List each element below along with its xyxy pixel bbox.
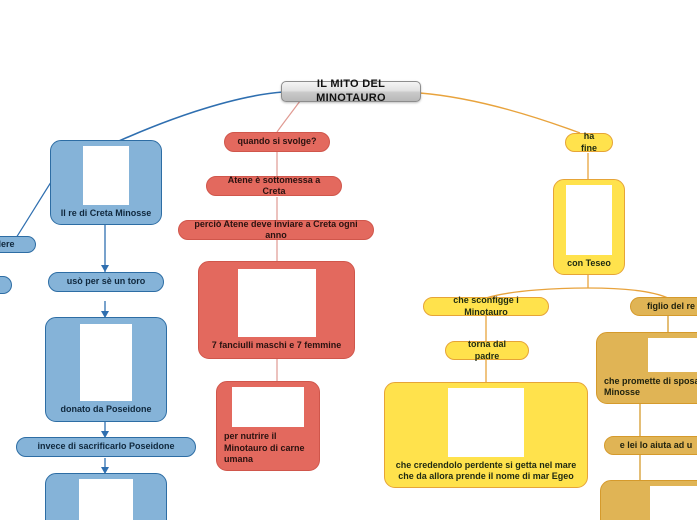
- node-clipped-left-bottom[interactable]: [0, 276, 12, 294]
- node-sposare-line1: che promette di sposa: [602, 376, 697, 387]
- node-poseidone[interactable]: donato da Poseidone: [45, 317, 167, 422]
- scena-illustration-image: [650, 486, 697, 520]
- node-toro-label: usò per sè un toro: [67, 276, 146, 287]
- node-egeo-line1: che credendolo perdente si getta nel mar…: [394, 460, 579, 471]
- node-egeo-line2: che da allora prende il nome di mar Egeo: [396, 471, 576, 482]
- donna-moneta-image: [79, 479, 133, 520]
- carne-illustration-image: [232, 387, 304, 427]
- node-atene[interactable]: Atene è sottomessa a Creta: [206, 176, 342, 196]
- node-minosse-label: Il re di Creta Minosse: [59, 208, 154, 219]
- node-fanciulli[interactable]: 7 fanciulli maschi e 7 femmine: [198, 261, 355, 359]
- node-clipped-left-top[interactable]: dere: [0, 236, 36, 253]
- link-root-yellow: [420, 93, 580, 133]
- node-padre[interactable]: torna dal padre: [445, 341, 529, 360]
- root-title: IL MITO DEL MINOTAURO: [292, 78, 410, 106]
- node-carne-label: per nutrire il Minotauro di carne umana: [222, 431, 318, 465]
- mindmap-canvas: IL MITO DEL MINOTAURO Il re di Creta Min…: [0, 0, 697, 520]
- bambini-illustration-image: [238, 269, 316, 337]
- poseidone-illustration-image: [80, 324, 132, 401]
- node-minosse[interactable]: Il re di Creta Minosse: [50, 140, 162, 225]
- node-aiuta-label: e lei lo aiuta ad u: [620, 440, 693, 451]
- node-fanciulli-label: 7 fanciulli maschi e 7 femmine: [210, 340, 344, 351]
- node-teseo[interactable]: con Teseo: [553, 179, 625, 275]
- node-fine-label: ha fine: [577, 131, 601, 154]
- node-fine[interactable]: ha fine: [565, 133, 613, 152]
- node-invio-label: perciò Atene deve inviare a Creta ogni a…: [190, 219, 362, 242]
- root-node[interactable]: IL MITO DEL MINOTAURO: [281, 81, 421, 102]
- node-blue-ultimo[interactable]: [45, 473, 167, 520]
- node-sacrificio-label: invece di sacrificarlo Poseidone: [37, 441, 174, 452]
- node-aiuta[interactable]: e lei lo aiuta ad u: [604, 436, 697, 455]
- node-egeo[interactable]: che credendolo perdente si getta nel mar…: [384, 382, 588, 488]
- node-quando[interactable]: quando si svolge?: [224, 132, 330, 152]
- link-root-red: [277, 101, 300, 132]
- node-sconfigge-label: che sconfigge i Minotauro: [435, 295, 537, 318]
- node-clipped-left-top-label: dere: [0, 239, 15, 250]
- minotauro-teseo-image: [566, 185, 612, 255]
- node-teseo-label: con Teseo: [565, 258, 613, 269]
- node-sposare-line2: Minosse: [602, 387, 697, 398]
- node-tan-ultimo[interactable]: [600, 480, 697, 520]
- node-figlia[interactable]: figlio del re d: [630, 297, 697, 316]
- node-padre-label: torna dal padre: [457, 339, 517, 362]
- node-atene-label: Atene è sottomessa a Creta: [218, 175, 330, 198]
- arrow-toro: [101, 265, 109, 272]
- node-figlia-label: figlio del re d: [647, 301, 697, 312]
- node-quando-label: quando si svolge?: [237, 136, 316, 147]
- node-sacrificio[interactable]: invece di sacrificarlo Poseidone: [16, 437, 196, 457]
- labirinto-illustration-image: [648, 338, 697, 372]
- node-toro[interactable]: usò per sè un toro: [48, 272, 164, 292]
- node-invio[interactable]: perciò Atene deve inviare a Creta ogni a…: [178, 220, 374, 240]
- minosse-painting-image: [83, 146, 129, 205]
- mappa-mar-egeo-image: [448, 388, 524, 457]
- node-carne[interactable]: per nutrire il Minotauro di carne umana: [216, 381, 320, 471]
- node-poseidone-label: donato da Poseidone: [58, 404, 153, 415]
- node-sposare[interactable]: che promette di sposa Minosse: [596, 332, 697, 404]
- node-sconfigge[interactable]: che sconfigge i Minotauro: [423, 297, 549, 316]
